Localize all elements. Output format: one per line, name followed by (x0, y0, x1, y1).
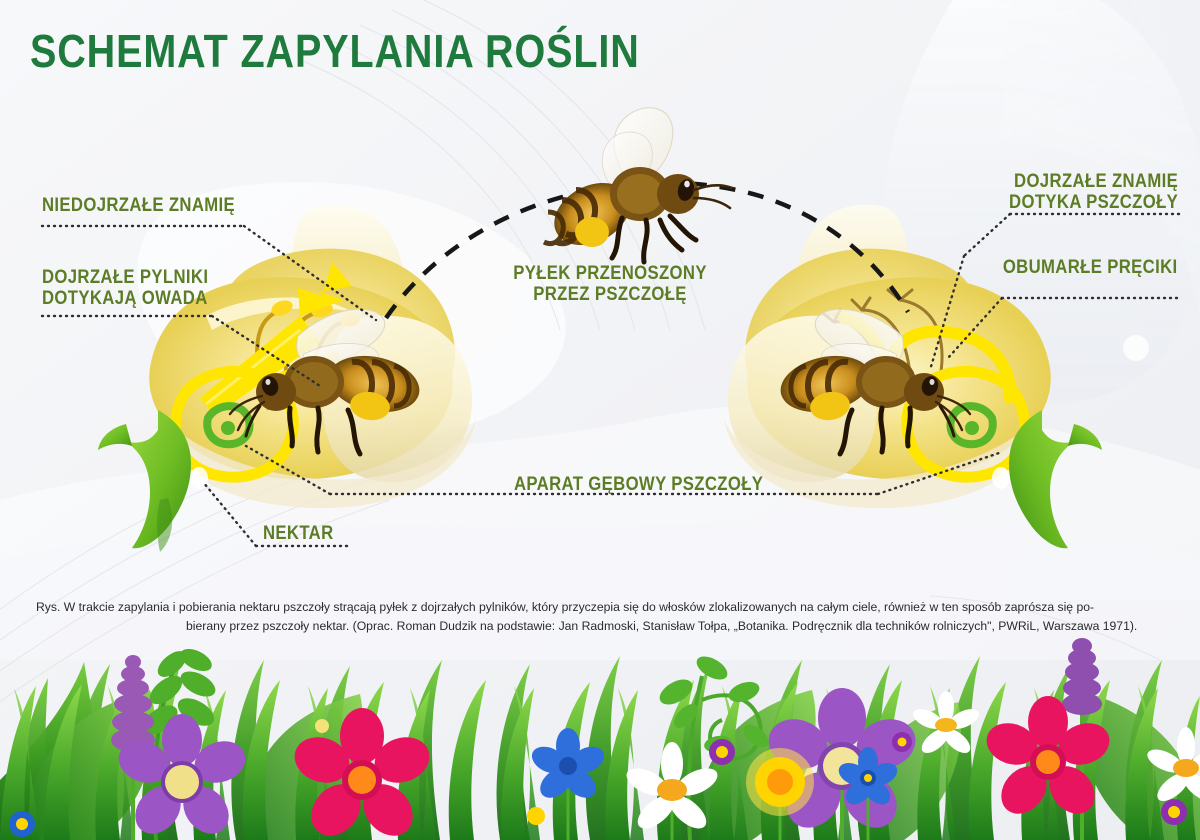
label-line: PRZEZ PSZCZOŁĘ (513, 285, 707, 306)
figure-caption: Rys. W trakcie zapylania i pobierania ne… (36, 598, 1166, 636)
label-dead-stamens: OBUMARŁE PRĘCIKI (1003, 258, 1178, 279)
label-line: NIEDOJRZAŁE ZNAMIĘ (42, 196, 235, 217)
label-line: DOJRZAŁE ZNAMIĘ (1009, 172, 1178, 193)
label-mature-anthers: DOJRZAŁE PYLNIKI DOTYKAJĄ OWADA (42, 268, 208, 309)
infographic-canvas: SCHEMAT ZAPYLANIA ROŚLIN NIEDOJRZAŁE ZNA… (0, 0, 1200, 840)
label-line: DOTYKA PSZCZOŁY (1009, 193, 1178, 214)
label-line: PYŁEK PRZENOSZONY (513, 264, 707, 285)
label-nectar: NEKTAR (263, 524, 334, 545)
label-immature-stigma: NIEDOJRZAŁE ZNAMIĘ (42, 196, 235, 217)
label-pollen-carried: PYŁEK PRZENOSZONY PRZEZ PSZCZOŁĘ (513, 264, 707, 305)
page-title: SCHEMAT ZAPYLANIA ROŚLIN (30, 24, 640, 78)
label-line: NEKTAR (263, 524, 334, 545)
label-bee-mouthparts: APARAT GĘBOWY PSZCZOŁY (514, 475, 763, 496)
label-mature-stigma: DOJRZAŁE ZNAMIĘ DOTYKA PSZCZOŁY (1009, 172, 1178, 213)
label-line: DOJRZAŁE PYLNIKI (42, 268, 208, 289)
caption-line-1: Rys. W trakcie zapylania i pobierania ne… (36, 600, 1094, 614)
label-line: OBUMARŁE PRĘCIKI (1003, 258, 1178, 279)
meadow-layer (0, 0, 1200, 840)
label-line: DOTYKAJĄ OWADA (42, 289, 208, 310)
label-line: APARAT GĘBOWY PSZCZOŁY (514, 475, 763, 496)
caption-line-2: bierany przez pszczoły nektar. (Oprac. R… (36, 617, 1166, 636)
